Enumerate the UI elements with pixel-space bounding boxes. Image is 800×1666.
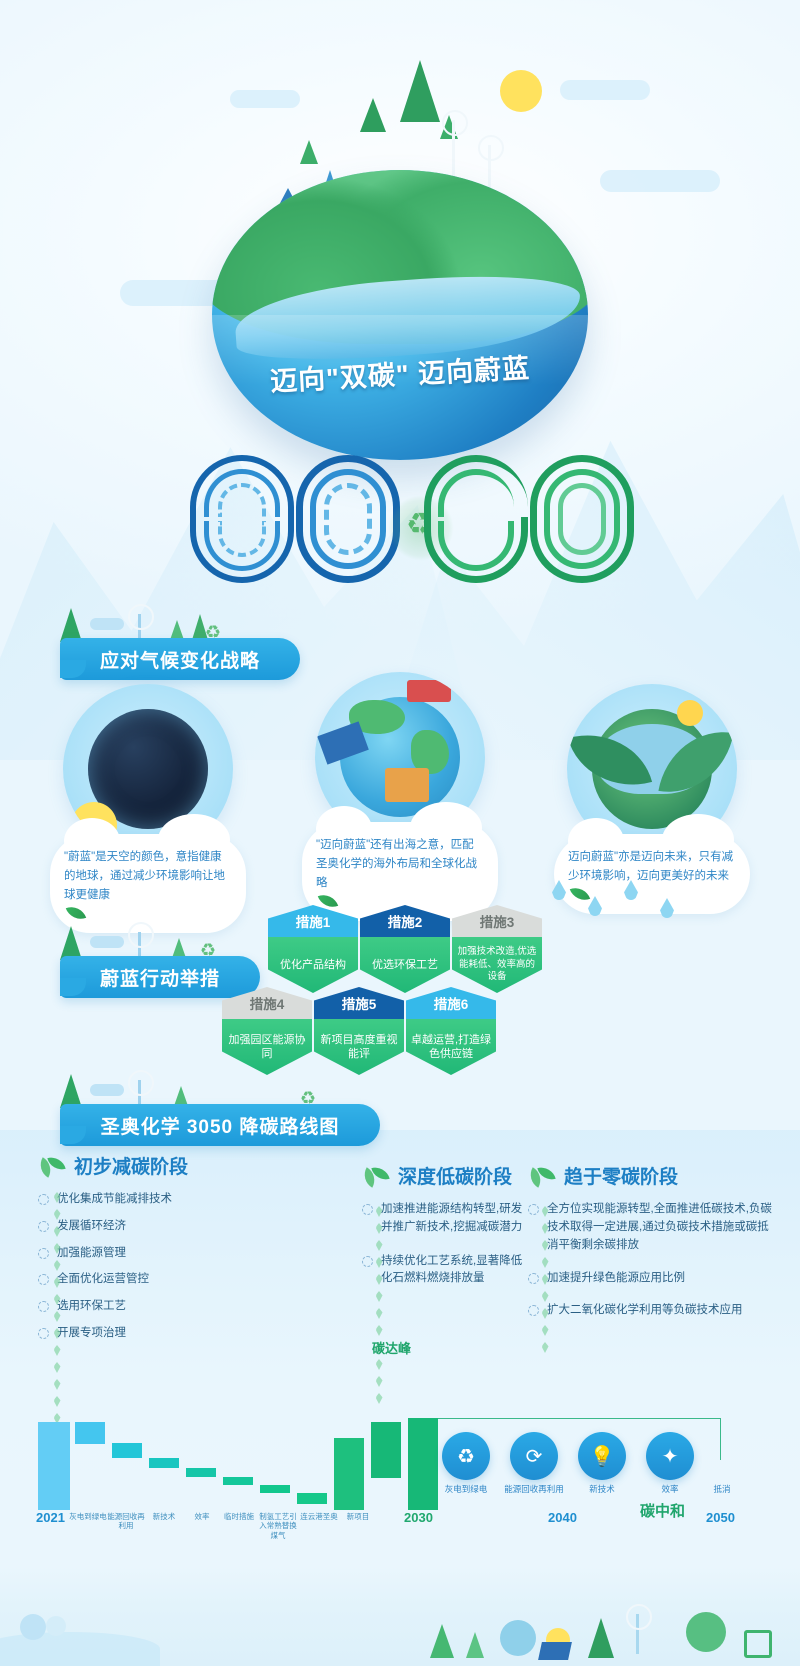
chart-bar-step-2 — [112, 1443, 142, 1458]
cloud-decor — [46, 1616, 66, 1636]
chart-connector-line — [438, 1418, 720, 1419]
tree-icon — [300, 140, 318, 164]
tree-icon — [466, 1632, 484, 1658]
stage-3-bullets: 全方位实现能源转型,全面推进低碳技术,负碳技术取得一定进展,通过负碳技术措施或碳… — [528, 1201, 778, 1320]
bullet-dot-icon — [38, 1301, 49, 1312]
solar-panel-icon — [538, 1642, 572, 1660]
measure-hex-6[interactable]: 措施6 卓越运营,打造绿色供应链 — [406, 987, 496, 1075]
bullet-text: 全方位实现能源转型,全面推进低碳技术,负碳技术取得一定进展,通过负碳技术措施或碳… — [547, 1201, 778, 1254]
sun-icon — [500, 70, 542, 112]
leaf-icon — [362, 1164, 390, 1188]
cat-label-6: 制氢工艺引入常熟替换煤气 — [256, 1512, 300, 1540]
climate-card-1: "蔚蓝"是天空的颜色，意指健康的地球，通过减少环境影响让地球更健康 — [48, 684, 248, 933]
year-2030: 2030 — [404, 1510, 433, 1525]
home-icon — [744, 1630, 772, 1658]
stage-2-bullets: 加速推进能源结构转型,研发并推广新技术,挖掘减碳潜力 持续优化工艺系统,显著降低… — [362, 1201, 532, 1288]
list-item: 加速提升绿色能源应用比例 — [528, 1270, 778, 1288]
parcel-box-icon — [385, 768, 429, 802]
bullet-text: 扩大二氧化碳化学利用等负碳技术应用 — [547, 1302, 743, 1320]
chart-bar-2030-peak — [408, 1418, 438, 1510]
sun-icon — [677, 700, 703, 726]
tree-icon — [360, 98, 386, 132]
chart-bar-step-7 — [297, 1493, 327, 1504]
measures-hex-grid: 措施1 优化产品结构 措施2 优选环保工艺 措施3 加强技术改造,优选能耗低、效… — [0, 905, 800, 1075]
tree-icon — [588, 1618, 614, 1658]
wind-turbine-icon — [636, 1614, 639, 1654]
measure-hex-5-label: 措施5 — [314, 987, 404, 1019]
bullet-text: 加速提升绿色能源应用比例 — [547, 1270, 685, 1288]
bullet-dot-icon — [362, 1204, 373, 1215]
stage-2-title: 深度低碳阶段 — [398, 1162, 512, 1189]
stage-1-bullets: 优化集成节能减排技术 发展循环经济 加强能源管理 全面优化运营管控 选用环保工艺… — [38, 1191, 318, 1343]
bullet-dot-icon — [528, 1204, 539, 1215]
recycle-icon: ♻ — [205, 622, 221, 643]
tree-icon — [400, 60, 440, 122]
year-2050: 2050 — [706, 1510, 735, 1525]
climate-card-3-text: 迈向蔚蓝"亦是迈向未来，只有减少环境影响，迈向更美好的未来 — [568, 848, 736, 886]
leaf-icon — [570, 884, 591, 905]
chart-bar-step-3 — [149, 1458, 179, 1468]
wind-icon — [500, 1620, 536, 1656]
banner-scene-1 — [60, 608, 280, 642]
measure-hex-1[interactable]: 措施1 优化产品结构 — [268, 905, 358, 993]
wind-turbine-icon[interactable]: ✦ — [646, 1432, 694, 1480]
climate-card-3-bubble: 迈向蔚蓝"亦是迈向未来，只有减少环境影响，迈向更美好的未来 — [554, 834, 750, 914]
bullet-dot-icon — [38, 1194, 49, 1205]
measure-hex-6-text: 卓越运营,打造绿色供应链 — [406, 1019, 496, 1075]
cloud-decor — [600, 170, 720, 192]
measure-hex-3[interactable]: 措施3 加强技术改造,优选能耗低、效率高的设备 — [452, 905, 542, 993]
cat-label-2: 能源回收再利用 — [106, 1512, 146, 1531]
measure-hex-2-text: 优选环保工艺 — [360, 937, 450, 993]
bullet-text: 加速推进能源结构转型,研发并推广新技术,挖掘减碳潜力 — [381, 1201, 532, 1237]
bullet-text: 选用环保工艺 — [57, 1298, 126, 1316]
bullet-dot-icon — [528, 1305, 539, 1316]
bullet-dot-icon — [362, 1256, 373, 1267]
bullet-text: 开展专项治理 — [57, 1325, 126, 1343]
bullet-dot-icon — [38, 1274, 49, 1285]
cat-label-1: 灰电到绿电 — [68, 1512, 108, 1521]
chart-bar-step-1 — [75, 1422, 105, 1444]
cat-label-7: 连云港圣奥 — [300, 1512, 338, 1521]
year-2021: 2021 — [36, 1510, 65, 1525]
bullet-text: 持续优化工艺系统,显著降低化石燃料燃烧排放量 — [381, 1253, 532, 1289]
bullet-text: 加强能源管理 — [57, 1245, 126, 1263]
measure-hex-5[interactable]: 措施5 新项目高度重视能评 — [314, 987, 404, 1075]
stage-3-title: 趋于零碳阶段 — [564, 1162, 678, 1189]
list-item: 发展循环经济 — [38, 1218, 318, 1236]
climate-card-2: "迈向蔚蓝"还有出海之意，匹配圣奥化学的海外布局和全球化战略 — [300, 672, 500, 921]
measure-hex-5-text: 新项目高度重视能评 — [314, 1019, 404, 1075]
carbon-waterfall-chart: 碳达峰 ♻ ⟳ 💡 ✦ 灰电到绿电 能源回收再利用 新技术 效率 抵消 碳中和 … — [0, 1370, 800, 1580]
bullet-text: 发展循环经济 — [57, 1218, 126, 1236]
chart-connector-drop — [720, 1418, 721, 1460]
year-2040: 2040 — [548, 1510, 577, 1525]
tree-icon — [170, 620, 184, 640]
measure-hex-1-label: 措施1 — [268, 905, 358, 937]
numeral-0-green-inner — [558, 483, 606, 555]
circle-label-1: 灰电到绿电 — [436, 1484, 496, 1495]
tree-icon — [686, 1612, 726, 1652]
chart-bar-step-5 — [223, 1477, 253, 1485]
measure-hex-2-label: 措施2 — [360, 905, 450, 937]
measure-hex-1-text: 优化产品结构 — [268, 937, 358, 993]
leaf-icon — [528, 1164, 556, 1188]
neutrality-annotation: 碳中和 — [640, 1500, 685, 1521]
list-item: 全面优化运营管控 — [38, 1271, 318, 1289]
section-banner-climate-strategy: 应对气候变化战略 — [60, 638, 300, 680]
leaf-icon — [38, 1154, 66, 1178]
numeral-0-blue-inner — [324, 483, 372, 555]
lightbulb-icon[interactable]: 💡 — [578, 1432, 626, 1480]
cat-label-4: 效率 — [184, 1512, 220, 1521]
bullet-text: 优化集成节能减排技术 — [57, 1191, 172, 1209]
list-item: 加速推进能源结构转型,研发并推广新技术,挖掘减碳潜力 — [362, 1201, 532, 1237]
measure-hex-4[interactable]: 措施4 加强园区能源协同 — [222, 987, 312, 1075]
stage-1-title: 初步减碳阶段 — [74, 1152, 188, 1179]
tree-icon — [430, 1624, 454, 1658]
list-item: 优化集成节能减排技术 — [38, 1191, 318, 1209]
list-item: 选用环保工艺 — [38, 1298, 318, 1316]
chart-bar-2029 — [371, 1422, 401, 1478]
chart-bar-2021 — [38, 1422, 70, 1510]
climate-card-3: 迈向蔚蓝"亦是迈向未来，只有减少环境影响，迈向更美好的未来 — [552, 684, 752, 914]
cat-label-5: 临时措施 — [221, 1512, 257, 1521]
cloud-decor — [90, 618, 124, 630]
cargo-ship-icon — [407, 680, 451, 702]
stage-3-head: 趋于零碳阶段 — [528, 1162, 778, 1189]
stage-3-dash-line — [540, 1206, 550, 1359]
list-item: 全方位实现能源转型,全面推进低碳技术,负碳技术取得一定进展,通过负碳技术措施或碳… — [528, 1201, 778, 1254]
circle-label-2: 能源回收再利用 — [504, 1484, 564, 1495]
cloud-decor — [90, 1084, 124, 1096]
cloud-decor — [230, 90, 300, 108]
stage-2: 深度低碳阶段 加速推进能源结构转型,研发并推广新技术,挖掘减碳潜力 持续优化工艺… — [362, 1162, 532, 1297]
measure-hex-4-label: 措施4 — [222, 987, 312, 1019]
big-3050-number — [0, 455, 800, 595]
chart-bar-newproject — [334, 1438, 364, 1510]
climate-card-1-text: "蔚蓝"是天空的颜色，意指健康的地球，通过减少环境影响让地球更健康 — [64, 848, 232, 905]
circle-label-4: 效率 — [640, 1484, 700, 1495]
chart-bar-step-4 — [186, 1468, 216, 1477]
measure-hex-4-text: 加强园区能源协同 — [222, 1019, 312, 1075]
bullet-text: 全面优化运营管控 — [57, 1271, 149, 1289]
hero-illustration: 迈向"双碳" 迈向蔚蓝 — [0, 20, 800, 450]
bullet-dot-icon — [528, 1273, 539, 1284]
banner-label: 应对气候变化战略 — [100, 646, 260, 673]
climate-card-2-text: "迈向蔚蓝"还有出海之意，匹配圣奥化学的海外布局和全球化战略 — [316, 836, 484, 893]
list-item: 开展专项治理 — [38, 1325, 318, 1343]
stage-2-head: 深度低碳阶段 — [362, 1162, 532, 1189]
chart-bar-step-6 — [260, 1485, 290, 1493]
bullet-dot-icon — [38, 1221, 49, 1232]
offset-label: 抵消 — [692, 1484, 752, 1495]
bullet-dot-icon — [38, 1328, 49, 1339]
globe-sphere — [212, 170, 588, 460]
footer-decoration — [0, 1566, 800, 1666]
measure-hex-6-label: 措施6 — [406, 987, 496, 1019]
cat-label-8: 新项目 — [340, 1512, 376, 1521]
measure-hex-3-label: 措施3 — [452, 905, 542, 937]
cloud-decor — [560, 80, 650, 100]
bullet-dot-icon — [38, 1248, 49, 1259]
list-item: 持续优化工艺系统,显著降低化石燃料燃烧排放量 — [362, 1253, 532, 1289]
stage-1-head: 初步减碳阶段 — [38, 1152, 318, 1179]
peak-annotation: 碳达峰 — [372, 1338, 411, 1357]
list-item: 扩大二氧化碳化学利用等负碳技术应用 — [528, 1302, 778, 1320]
measure-hex-3-text: 加强技术改造,优选能耗低、效率高的设备 — [452, 937, 542, 993]
cat-label-3: 新技术 — [146, 1512, 182, 1521]
earth-globe: 迈向"双碳" 迈向蔚蓝 — [212, 170, 588, 460]
tree-icon — [60, 608, 82, 642]
cloud-decor — [20, 1614, 46, 1640]
recycle-arrows-icon[interactable]: ♻ — [442, 1432, 490, 1480]
stage-3: 趋于零碳阶段 全方位实现能源转型,全面推进低碳技术,负碳技术取得一定进展,通过负… — [528, 1162, 778, 1329]
circle-label-3: 新技术 — [572, 1484, 632, 1495]
energy-recovery-icon[interactable]: ⟳ — [510, 1432, 558, 1480]
wind-turbine-icon — [138, 614, 141, 640]
list-item: 加强能源管理 — [38, 1245, 318, 1263]
stage-1: 初步减碳阶段 优化集成节能减排技术 发展循环经济 加强能源管理 全面优化运营管控… — [38, 1152, 318, 1352]
measure-hex-2[interactable]: 措施2 优选环保工艺 — [360, 905, 450, 993]
